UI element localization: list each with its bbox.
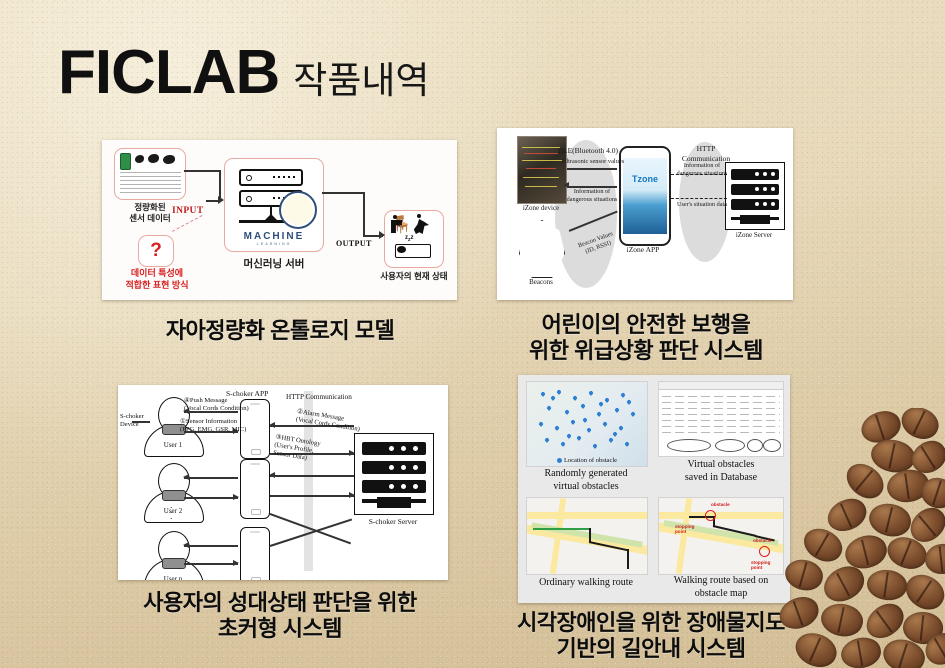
- ble-channel-label: BLE(Bluetooth 4.0): [549, 146, 627, 155]
- input-edge-label: INPUT: [172, 206, 204, 216]
- izone-app-screen-text: Tzone: [621, 174, 669, 184]
- brand-title: FICLAB: [58, 42, 279, 104]
- beacons-label: Beacons: [513, 278, 569, 286]
- izone-app-label: iZone APP: [609, 245, 677, 254]
- project-panel-schoker[interactable]: User 1 S-chokerDevice User 2 User n ... …: [118, 385, 448, 580]
- coffee-beans-decoration: [775, 408, 945, 668]
- neural-network-icon: [279, 191, 317, 229]
- project-caption-izone: 어린이의 안전한 보행을위한 위급상황 판단 시스템: [488, 312, 804, 364]
- title-row: FICLAB 작품내역: [58, 42, 429, 104]
- user-state-node: 🪑 zzz: [384, 210, 444, 268]
- obstacle-database-caption: Virtual obstaclessaved in Database: [658, 459, 784, 484]
- flow-line: [184, 170, 220, 172]
- ultrasonic-edge-label: Ultrasonic sensor values: [557, 158, 629, 165]
- http-channel-label: HTTP Communication: [286, 393, 352, 402]
- user-state-label: 사용자의 현재 상태: [364, 270, 457, 282]
- flow-line: [363, 192, 365, 236]
- wearable-icon: [163, 155, 175, 164]
- obstacle-marker-label: obstacle: [753, 538, 772, 543]
- running-person-icon: [417, 214, 421, 218]
- user-n-label: User n: [144, 575, 202, 580]
- project-panel-ontology[interactable]: 정량화된센서 데이터 ? 데이터 특성에적합한 표현 방식 MACHINELEA…: [102, 140, 457, 300]
- user-1-label: User 1: [144, 441, 202, 449]
- random-obstacles-map-tile: Location of obstacle: [526, 381, 648, 467]
- obstacle-route-tile: obstacle stoppingpoint obstacle stopping…: [658, 497, 784, 575]
- question-mark-icon: ?: [139, 236, 173, 266]
- representation-question-label: 데이터 특성에적합한 표현 방식: [106, 268, 208, 291]
- ellipsis-icon: ...: [170, 503, 173, 519]
- danger-info-edge-label: Information ofdangerous situations: [555, 188, 629, 204]
- obstacle-marker: [759, 546, 770, 557]
- zzz-icon: zzz: [405, 235, 414, 243]
- user-situation-edge-label: User's situation data: [669, 201, 735, 208]
- schoker-app-phone-2: [240, 459, 270, 519]
- schoker-app-phone-n: [240, 527, 270, 580]
- obstacle-database-tile: [658, 381, 784, 457]
- sensor-information-edge-label: ①Sensor Information(PPG, EMG, GSR, MIC): [180, 418, 246, 434]
- http-channel-label: HTTPCommunication: [675, 144, 737, 164]
- obstacle-marker: [705, 510, 716, 521]
- obstacle-map-legend: Location of obstacle: [527, 457, 647, 464]
- stopping-point-label: stoppingpoint: [751, 560, 770, 570]
- izone-server-label: iZone Server: [719, 231, 789, 239]
- data-lines: [120, 172, 181, 196]
- wearable-icon: [148, 154, 159, 163]
- flow-line: [322, 192, 364, 194]
- sensor-data-node: [114, 148, 186, 200]
- user-2-label: User 2: [144, 507, 202, 515]
- stopping-point-label: stoppingpoint: [675, 524, 694, 534]
- random-obstacles-caption: Randomly generatedvirtual obstacles: [522, 468, 650, 493]
- schoker-server-icon: [354, 433, 434, 515]
- project-panel-obstacle-map[interactable]: Location of obstacle Randomly generatedv…: [518, 375, 790, 603]
- schoker-server-label: S-choker Server: [350, 517, 436, 526]
- izone-server-icon: [725, 162, 785, 230]
- danger-info-server-label: Information ofdangerous situations: [671, 162, 733, 178]
- project-caption-schoker: 사용자의 성대상태 판단을 위한초커형 시스템: [98, 590, 462, 642]
- ordinary-route-caption: Ordinary walking route: [520, 577, 652, 590]
- ordinary-route-tile: [526, 497, 648, 575]
- push-message-edge-label: ④Push Message(Vocal Cords Condition): [184, 397, 249, 413]
- obstacle-dots: [527, 382, 647, 466]
- project-panel-izone[interactable]: iZone device Beacons Tzone iZone APP iZo…: [497, 128, 793, 300]
- phone-icon: [120, 153, 131, 170]
- project-caption-obstacle-map: 시각장애인을 위한 장애물지도기반의 길안내 시스템: [486, 610, 816, 662]
- project-caption-ontology: 자아정량화 온톨로지 모델: [100, 318, 460, 344]
- machine-learning-logo-text: MACHINELEARNING: [225, 231, 323, 246]
- hbt-ontology-edge-label: ③HBT Ontology(User's Profile,Sensor Data…: [272, 434, 321, 465]
- obstacle-marker-label: obstacle: [711, 502, 730, 507]
- representation-question-node: ?: [138, 235, 174, 267]
- ml-server-node: MACHINELEARNING: [224, 158, 324, 252]
- slide-canvas: FICLAB 작품내역 정량화된센서 데이터 ? 데이터 특성에적합한 표현 방…: [0, 0, 945, 668]
- obstacle-route-caption: Walking route based onobstacle map: [656, 575, 786, 600]
- izone-device-label: iZone device: [505, 204, 577, 212]
- ml-server-label: 머신러닝 서버: [214, 256, 334, 271]
- wearable-icon: [135, 155, 144, 163]
- page-subtitle: 작품내역: [293, 62, 429, 99]
- output-edge-label: OUTPUT: [336, 239, 372, 248]
